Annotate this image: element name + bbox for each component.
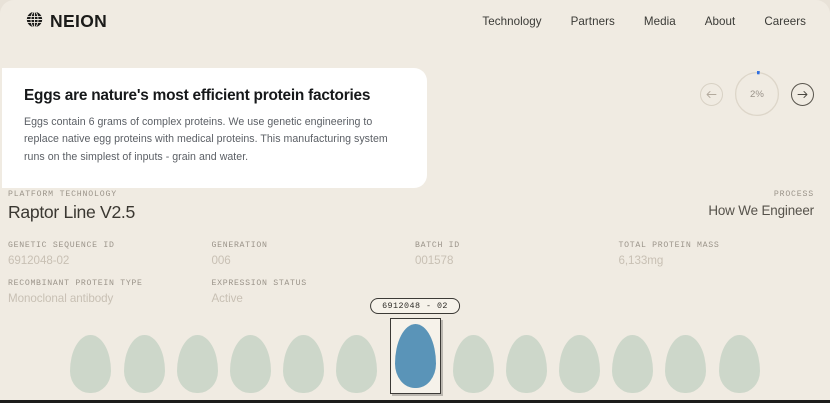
meta-value: Monoclonal antibody <box>8 292 212 305</box>
meta-cell-total-protein-mass: TOTAL PROTEIN MASS 6,133mg <box>619 241 823 267</box>
meta-cell-generation: GENERATION 006 <box>212 241 416 267</box>
platform-name: Raptor Line V2.5 <box>8 204 135 222</box>
process-name: How We Engineer <box>708 204 814 217</box>
site-header: NEION Technology Partners Media About Ca… <box>0 0 830 43</box>
meta-value: 006 <box>212 254 416 267</box>
egg-shape <box>283 335 324 393</box>
meta-label: BATCH ID <box>415 241 619 250</box>
meta-cell-genetic-sequence-id: GENETIC SEQUENCE ID 6912048-02 <box>8 241 212 267</box>
egg-shape <box>124 335 165 393</box>
meta-value: 6912048-02 <box>8 254 212 267</box>
egg-shape <box>230 335 271 393</box>
egg-shape <box>506 335 547 393</box>
egg-slot[interactable] <box>453 333 494 394</box>
egg-slot[interactable] <box>506 333 547 394</box>
nav-item-media[interactable]: Media <box>644 15 676 28</box>
egg-slot[interactable] <box>177 333 218 394</box>
meta-label: GENETIC SEQUENCE ID <box>8 241 212 250</box>
egg-shape <box>719 335 760 393</box>
egg-slot-selected[interactable]: 6912048 - 02 <box>390 318 441 394</box>
arrow-right-icon <box>797 90 808 99</box>
page-viewport: NEION Technology Partners Media About Ca… <box>0 0 830 403</box>
egg-slot[interactable] <box>336 333 377 394</box>
hero-card-title: Eggs are nature's most efficient protein… <box>24 86 405 105</box>
process-kicker: PROCESS <box>708 190 814 199</box>
progress-ring: 2% <box>734 71 780 117</box>
egg-shape <box>70 335 111 393</box>
egg-shape <box>336 335 377 393</box>
platform-kicker: PLATFORM TECHNOLOGY <box>8 190 135 199</box>
meta-label: EXPRESSION STATUS <box>212 279 416 288</box>
arrow-left-icon <box>706 90 717 99</box>
primary-nav: Technology Partners Media About Careers <box>482 15 806 28</box>
egg-selector-tray: 6912048 - 02 <box>0 318 830 400</box>
egg-slot[interactable] <box>719 333 760 394</box>
process-block[interactable]: PROCESS How We Engineer <box>708 190 814 217</box>
egg-shape <box>612 335 653 393</box>
egg-slot[interactable] <box>283 333 324 394</box>
egg-shape <box>453 335 494 393</box>
meta-label: TOTAL PROTEIN MASS <box>619 241 823 250</box>
carousel-controls: 2% <box>700 71 814 117</box>
brand-name: NEION <box>50 11 107 32</box>
egg-slot[interactable] <box>559 333 600 394</box>
nav-item-partners[interactable]: Partners <box>571 15 615 28</box>
egg-slot[interactable] <box>612 333 653 394</box>
egg-shape <box>395 324 436 388</box>
prev-button[interactable] <box>700 83 723 106</box>
egg-slot[interactable] <box>70 333 111 394</box>
progress-percent-label: 2% <box>750 89 764 100</box>
egg-slot[interactable] <box>665 333 706 394</box>
egg-tooltip: 6912048 - 02 <box>370 298 460 314</box>
egg-slot[interactable] <box>124 333 165 394</box>
nav-item-about[interactable]: About <box>705 15 736 28</box>
meta-value: 001578 <box>415 254 619 267</box>
brand-logo[interactable]: NEION <box>26 11 107 33</box>
nav-item-technology[interactable]: Technology <box>482 15 541 28</box>
next-button[interactable] <box>791 83 814 106</box>
egg-slot[interactable] <box>230 333 271 394</box>
egg-shape <box>665 335 706 393</box>
egg-shape <box>177 335 218 393</box>
meta-label: GENERATION <box>212 241 416 250</box>
meta-label: RECOMBINANT PROTEIN TYPE <box>8 279 212 288</box>
hero-card: Eggs are nature's most efficient protein… <box>2 68 427 188</box>
meta-cell-recombinant-protein-type: RECOMBINANT PROTEIN TYPE Monoclonal anti… <box>8 279 212 305</box>
platform-process-row: PLATFORM TECHNOLOGY Raptor Line V2.5 PRO… <box>0 190 830 222</box>
specification-grid: GENETIC SEQUENCE ID 6912048-02 GENERATIO… <box>8 241 822 305</box>
egg-shape <box>559 335 600 393</box>
hero-card-body: Eggs contain 6 grams of complex proteins… <box>24 114 405 165</box>
globe-grid-icon <box>26 11 43 33</box>
meta-value: 6,133mg <box>619 254 823 267</box>
meta-cell-batch-id: BATCH ID 001578 <box>415 241 619 267</box>
nav-item-careers[interactable]: Careers <box>764 15 806 28</box>
platform-block: PLATFORM TECHNOLOGY Raptor Line V2.5 <box>8 190 135 222</box>
